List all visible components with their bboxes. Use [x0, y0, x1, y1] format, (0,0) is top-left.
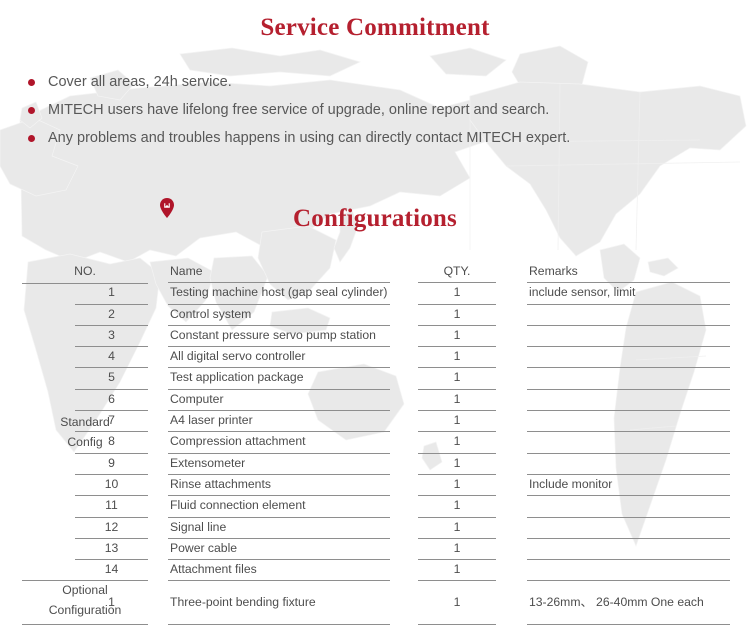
cell-remarks: [527, 347, 730, 368]
cell-no: 13: [75, 539, 148, 560]
bullet-dot-icon: [28, 107, 35, 114]
table-row: 14Attachment files1: [0, 560, 750, 581]
table-row: 4All digital servo controller1: [0, 347, 750, 368]
cell-remarks: Include monitor: [527, 475, 730, 496]
configurations-title: Configurations: [0, 205, 750, 233]
cell-qty: 1: [418, 305, 496, 326]
list-item: MITECH users have lifelong free service …: [26, 96, 726, 124]
cell-remarks: [527, 454, 730, 475]
table-row: 3Constant pressure servo pump station1: [0, 326, 750, 347]
cell-no: 11: [75, 496, 148, 517]
cell-qty: 1: [418, 475, 496, 496]
cell-remarks: 13-26mm、 26-40mm One each: [527, 581, 730, 625]
cell-name: All digital servo controller: [168, 347, 390, 368]
cell-qty: 1: [418, 454, 496, 475]
cell-name: Three-point bending fixture: [168, 581, 390, 625]
cell-name: Test application package: [168, 368, 390, 389]
cell-qty: 1: [418, 496, 496, 517]
cell-name: Control system: [168, 305, 390, 326]
service-commitment-title: Service Commitment: [0, 14, 750, 42]
column-header-no: NO.: [22, 262, 148, 283]
cell-remarks: [527, 518, 730, 539]
cell-qty: 1: [418, 347, 496, 368]
table-row: 1Three-point bending fixture113-26mm、 26…: [0, 581, 750, 625]
cell-name: Extensometer: [168, 454, 390, 475]
cell-remarks: [527, 390, 730, 411]
list-item: Cover all areas, 24h service.: [26, 68, 726, 96]
bullet-dot-icon: [28, 79, 35, 86]
cell-remarks: [527, 411, 730, 432]
cell-remarks: [527, 560, 730, 581]
cell-no: 1: [75, 283, 148, 304]
cell-qty: 1: [418, 326, 496, 347]
cell-qty: 1: [418, 411, 496, 432]
table-row: 11Fluid connection element1: [0, 496, 750, 517]
cell-no: 6: [75, 390, 148, 411]
table-row: 10Rinse attachments1Include monitor: [0, 475, 750, 496]
cell-no: 7: [75, 411, 148, 432]
cell-name: Compression attachment: [168, 432, 390, 453]
cell-qty: 1: [418, 518, 496, 539]
cell-name: Power cable: [168, 539, 390, 560]
configurations-table: Standard Config Optional Configuration N…: [0, 262, 750, 625]
cell-name: Computer: [168, 390, 390, 411]
table-row: 6Computer1: [0, 390, 750, 411]
list-item-label: Cover all areas, 24h service.: [48, 74, 232, 90]
column-header-qty: QTY.: [418, 262, 496, 283]
cell-remarks: [527, 432, 730, 453]
cell-no: 3: [75, 326, 148, 347]
cell-remarks: [527, 368, 730, 389]
cell-remarks: [527, 305, 730, 326]
table-header-row: NO. Name QTY. Remarks: [0, 262, 750, 283]
cell-name: Rinse attachments: [168, 475, 390, 496]
cell-remarks: [527, 326, 730, 347]
list-item: Any problems and troubles happens in usi…: [26, 124, 726, 152]
cell-no: 4: [75, 347, 148, 368]
cell-qty: 1: [418, 581, 496, 625]
cell-no: 9: [75, 454, 148, 475]
column-header-name: Name: [168, 262, 390, 283]
cell-name: Signal line: [168, 518, 390, 539]
cell-no: 5: [75, 368, 148, 389]
table-row: 1Testing machine host (gap seal cylinder…: [0, 283, 750, 304]
cell-name: Testing machine host (gap seal cylinder): [168, 283, 390, 304]
cell-no: 12: [75, 518, 148, 539]
table-row: 9Extensometer1: [0, 454, 750, 475]
cell-qty: 1: [418, 283, 496, 304]
column-header-remarks: Remarks: [527, 262, 730, 283]
cell-no: 8: [75, 432, 148, 453]
cell-qty: 1: [418, 560, 496, 581]
cell-remarks: [527, 496, 730, 517]
cell-name: Constant pressure servo pump station: [168, 326, 390, 347]
cell-no: 1: [75, 581, 148, 625]
cell-name: A4 laser printer: [168, 411, 390, 432]
table-row: 13Power cable1: [0, 539, 750, 560]
cell-no: 14: [75, 560, 148, 581]
cell-no: 2: [75, 305, 148, 326]
cell-qty: 1: [418, 390, 496, 411]
list-item-label: Any problems and troubles happens in usi…: [48, 130, 570, 146]
cell-qty: 1: [418, 539, 496, 560]
table-row: 12Signal line1: [0, 518, 750, 539]
table-row: 5Test application package1: [0, 368, 750, 389]
cell-name: Fluid connection element: [168, 496, 390, 517]
cell-remarks: include sensor, limit: [527, 283, 730, 304]
cell-name: Attachment files: [168, 560, 390, 581]
table-row: 7A4 laser printer1: [0, 411, 750, 432]
cell-no: 10: [75, 475, 148, 496]
table-row: 2Control system1: [0, 305, 750, 326]
list-item-label: MITECH users have lifelong free service …: [48, 102, 549, 118]
cell-remarks: [527, 539, 730, 560]
commitment-list: Cover all areas, 24h service. MITECH use…: [26, 68, 726, 152]
cell-qty: 1: [418, 432, 496, 453]
table-row: 8Compression attachment1: [0, 432, 750, 453]
cell-qty: 1: [418, 368, 496, 389]
bullet-dot-icon: [28, 135, 35, 142]
